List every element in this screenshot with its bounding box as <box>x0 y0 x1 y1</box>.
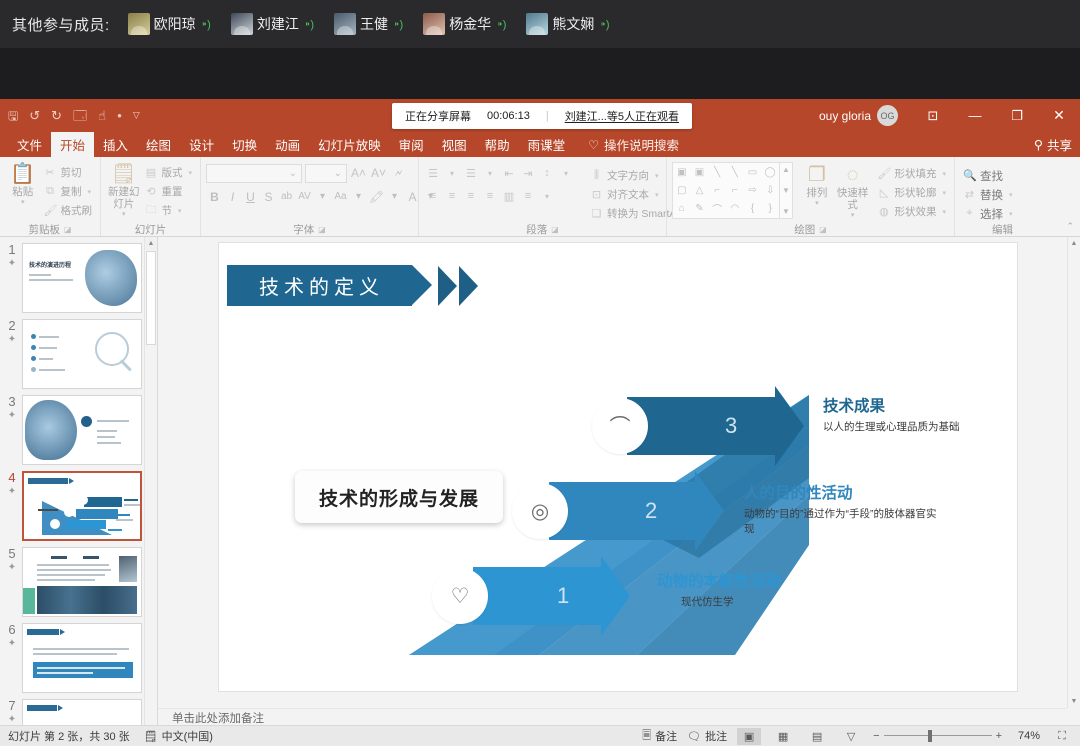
chevron-down-icon: ▾ <box>942 170 946 178</box>
thumb-index: 3 <box>8 394 15 409</box>
thumbnail-preview[interactable] <box>22 319 142 389</box>
align-right-button[interactable]: ≡ <box>462 187 480 205</box>
ribbon-group-font: ⌄ ⌄ A˄ A˅ 🗲 B I U S <box>200 157 418 237</box>
step-number-1: 1 <box>557 583 569 609</box>
shape-fill-label: 形状填充 <box>894 166 936 181</box>
animation-star-icon: ✦ <box>2 258 22 269</box>
participant-item[interactable]: 熊文娴 ⁍) <box>526 13 609 35</box>
account-avatar[interactable]: OG <box>877 105 898 126</box>
thumb-index: 1 <box>8 242 15 257</box>
animation-star-icon: ✦ <box>2 562 22 573</box>
step-title-1: 动物的本能性活动 <box>657 573 847 592</box>
format-painter-label: 格式刷 <box>61 203 93 218</box>
thumb-mini: 技术的演进历程 <box>23 244 141 312</box>
find-label: 查找 <box>980 168 1003 184</box>
chevron-down-icon[interactable]: ▾ <box>557 164 575 182</box>
comment-icon: 🗨 <box>687 730 701 743</box>
clear-formatting-icon[interactable]: 🗲 <box>390 164 407 183</box>
clipboard-label: 剪贴板 <box>28 222 60 237</box>
chevron-down-icon: ⌄ <box>289 168 297 179</box>
thumb-index: 6 <box>8 622 15 637</box>
zoom-control[interactable]: − + <box>873 730 1002 742</box>
align-text-icon: ⊡ <box>590 188 603 201</box>
slide-thumbnail-panel[interactable]: 1 ✦ 技术的演进历程 2 ✦ <box>0 237 158 746</box>
step-icon-circle-1[interactable]: ♡ <box>432 568 488 624</box>
chevron-down-icon: ▾ <box>942 189 946 197</box>
proofing-icon: 🗒 <box>144 730 158 743</box>
mic-on-icon: ⁍) <box>497 18 506 31</box>
replace-icon: ⇄ <box>963 188 976 201</box>
participants-label: 其他参与成员: <box>12 14 110 35</box>
zoom-handle[interactable] <box>928 730 932 742</box>
shape-outline-button[interactable]: ◺ 形状轮廓 ▾ <box>874 184 949 201</box>
numbering-button[interactable]: ☰ <box>462 164 480 182</box>
process-diagram[interactable]: 3 2 1 <box>399 383 999 673</box>
group-label-editing: 编辑 <box>960 222 1045 237</box>
normal-view-button[interactable]: ▣ <box>737 728 761 745</box>
arrange-button[interactable]: ❐ 排列 ▾ <box>801 162 833 208</box>
heart-icon: ♡ <box>451 584 470 609</box>
chevron-down-icon: ▾ <box>1009 210 1013 218</box>
quick-styles-button[interactable]: ◌ 快速样式 ▾ <box>837 162 869 220</box>
thumbnail-item-selected[interactable]: 4 ✦ <box>0 465 157 541</box>
chevron-down-icon[interactable]: ▾ <box>443 164 461 182</box>
tab-insert[interactable]: 插入 <box>94 132 137 157</box>
chevron-down-icon[interactable]: ▾ <box>350 187 367 206</box>
group-label-drawing: 绘图 ◪ <box>672 222 949 237</box>
paste-button[interactable]: 📋 粘贴 ▾ <box>5 161 41 207</box>
shape-pentagon-icon[interactable]: ⌂ <box>679 203 685 214</box>
copy-label: 复制 <box>61 184 82 199</box>
shape-textbox-icon[interactable]: ▣ <box>677 167 686 178</box>
thumbnail-number: 2 ✦ <box>2 319 22 345</box>
tell-me-label: 操作说明搜索 <box>604 135 679 154</box>
tell-me-search[interactable]: ♡ 操作说明搜索 <box>574 132 688 157</box>
italic-button[interactable]: I <box>224 187 241 206</box>
step-desc-1: 现代仿生学 <box>657 595 847 610</box>
search-icon: 🔍 <box>963 169 976 182</box>
change-case-button[interactable]: Aa <box>332 187 349 206</box>
dialog-launcher-icon[interactable]: ◪ <box>551 225 559 234</box>
editing-label: 编辑 <box>992 222 1013 237</box>
shape-curve-icon[interactable]: ⌒ <box>712 201 722 216</box>
new-slide-icon: 🗒 <box>111 163 136 185</box>
animation-star-icon: ✦ <box>2 638 22 649</box>
tab-design[interactable]: 设计 <box>180 132 223 157</box>
undo-icon[interactable]: ↺ <box>29 109 40 122</box>
lightbulb-icon: ♡ <box>588 138 599 152</box>
font-size-combo[interactable]: ⌄ <box>305 164 347 183</box>
notes-icon: 🗏 <box>642 727 651 746</box>
scrollbar-thumb[interactable] <box>146 251 156 345</box>
group-label-clipboard: 剪贴板 ◪ <box>5 222 95 237</box>
mic-on-icon: ⁍) <box>202 18 211 31</box>
thumbnail-scrollbar[interactable]: ▲ ▼ <box>144 237 157 746</box>
process-arrow-1[interactable]: 1 <box>473 567 601 625</box>
select-icon: ⌖ <box>963 207 976 220</box>
reset-button[interactable]: ⟲ 重置 <box>141 183 195 200</box>
comments-toggle[interactable]: 🗨 批注 <box>687 728 727 744</box>
touch-mode-icon[interactable]: ☝ <box>98 109 106 122</box>
shape-oval-icon[interactable]: ◯ <box>765 167 776 178</box>
select-label: 选择 <box>980 206 1003 222</box>
process-arrow-2[interactable]: 2 <box>549 482 695 540</box>
thumbnail-item[interactable]: 5 ✦ <box>0 541 157 617</box>
thumb-mini <box>23 624 141 692</box>
slide-title[interactable]: 技术的定义 <box>227 265 412 306</box>
thumbnail-preview[interactable] <box>22 623 142 693</box>
share-button[interactable]: ⚲ 共享 <box>1034 135 1072 154</box>
replace-label: 替换 <box>980 187 1003 203</box>
collapse-ribbon-icon[interactable]: ⌃ <box>1066 221 1074 232</box>
minimize-icon[interactable]: — <box>954 99 996 132</box>
shape-rect-icon[interactable]: ▭ <box>748 167 757 178</box>
line-spacing-button[interactable]: ↕ <box>538 164 556 182</box>
participant-name: 欧阳琼 <box>154 14 196 34</box>
bullets-button[interactable]: ☰ <box>424 164 442 182</box>
restore-icon[interactable]: ❐ <box>996 99 1038 132</box>
proofing-status[interactable]: 🗒 中文(中国) <box>144 728 213 744</box>
copy-icon: ⧉ <box>44 185 57 198</box>
status-left: 幻灯片 第 2 张，共 30 张 🗒 中文(中国) <box>0 728 213 744</box>
shape-down-arrow-icon[interactable]: ⇩ <box>766 185 774 196</box>
thumb-index: 5 <box>8 546 15 561</box>
shape-outline-icon: ◺ <box>877 186 890 199</box>
chevron-down-icon: ▾ <box>188 169 192 177</box>
align-left-button[interactable]: ≡ <box>424 187 442 205</box>
columns-button[interactable]: ▥ <box>500 187 518 205</box>
paragraph-label: 段落 <box>526 222 547 237</box>
thumbnail-item[interactable]: 3 ✦ <box>0 389 157 465</box>
shape-outline-label: 形状轮廓 <box>894 185 936 200</box>
thumbnail-number: 1 ✦ <box>2 243 22 269</box>
thumbnail-item[interactable]: 2 ✦ <box>0 313 157 389</box>
tab-file[interactable]: 文件 <box>8 132 51 157</box>
quick-styles-label: 快速样式 <box>837 187 869 211</box>
step-icon-circle-2[interactable]: ◎ <box>512 483 568 539</box>
step-icon-circle-3[interactable]: ⌒ <box>592 398 648 454</box>
share-status: 正在分享屏幕 <box>405 108 471 124</box>
current-slide[interactable]: 技术的定义 技术的形成与发展 <box>218 242 1018 692</box>
tab-slideshow[interactable]: 幻灯片放映 <box>309 132 390 157</box>
notes-label: 备注 <box>655 728 677 744</box>
chevron-down-icon: ▾ <box>1009 191 1013 199</box>
status-right: 🗏 备注 🗨 批注 ▣ ▦ ▤ ▽ − + 74% <box>642 727 1080 746</box>
shape-arc-icon[interactable]: ◠ <box>730 203 739 214</box>
chevron-down-icon[interactable]: ▾ <box>314 187 331 206</box>
copy-button[interactable]: ⧉ 复制 ▾ <box>41 183 96 200</box>
layout-icon: ▤ <box>144 166 157 179</box>
smartart-icon: ❏ <box>590 207 603 220</box>
thumbnail-number: 7 ✦ <box>2 699 22 725</box>
shape-right-brace-icon[interactable]: } <box>768 203 771 214</box>
decrease-indent-button[interactable]: ⇤ <box>500 164 518 182</box>
layout-button[interactable]: ▤ 版式 ▾ <box>141 164 195 181</box>
status-bar: 幻灯片 第 2 张，共 30 张 🗒 中文(中国) 🗏 备注 🗨 批注 ▣ ▦ … <box>0 725 1080 746</box>
slide-editing-stage[interactable]: 技术的定义 技术的形成与发展 <box>158 237 1067 708</box>
text-direction-label: 文字方向 <box>607 168 649 183</box>
scissors-icon: ✂ <box>44 166 57 179</box>
shapes-gallery[interactable]: ▣ ▣ ╲ ╲ ▭ ◯ ▢ △ ⌐ ⌐ ⇨ ⇩ ⌂ <box>672 162 780 219</box>
dialog-launcher-icon[interactable]: ◪ <box>819 225 827 234</box>
scroll-up-icon[interactable]: ▲ <box>1068 237 1080 250</box>
arrange-icon: ❐ <box>808 164 826 186</box>
thumbnail-item[interactable]: 1 ✦ 技术的演进历程 <box>0 237 157 313</box>
animation-star-icon: ✦ <box>2 410 22 421</box>
share-timer: 00:06:13 <box>487 110 530 122</box>
thumbnail-preview[interactable] <box>22 395 142 465</box>
tab-animations[interactable]: 动画 <box>266 132 309 157</box>
layout-label: 版式 <box>161 165 182 180</box>
animation-star-icon: ✦ <box>2 714 22 725</box>
chevron-down-icon: ▾ <box>88 188 92 196</box>
chevron-down-icon: ▾ <box>122 211 126 219</box>
tab-review[interactable]: 审阅 <box>390 132 433 157</box>
participant-name: 王健 <box>360 14 388 34</box>
cut-button[interactable]: ✂ 剪切 <box>41 164 96 181</box>
save-icon[interactable]: 🖫 <box>8 110 18 122</box>
section-button[interactable]: 🗀 节 ▾ <box>141 202 195 219</box>
scroll-up-icon[interactable]: ▲ <box>145 237 157 250</box>
group-label-slides: 幻灯片 <box>106 222 195 237</box>
decrease-font-size-icon[interactable]: A˅ <box>370 164 387 183</box>
language-label: 中文(中国) <box>162 728 213 744</box>
font-name-combo[interactable]: ⌄ <box>206 164 302 183</box>
ribbon-group-paragraph: ☰ ▾ ☰ ▾ ⇤ ⇥ ↕ ▾ ≡ ≡ ≡ <box>418 157 666 237</box>
thumbnail-number: 3 ✦ <box>2 395 22 421</box>
thumbnail-item[interactable]: 6 ✦ <box>0 617 157 693</box>
slide-title-group[interactable]: 技术的定义 <box>227 265 478 306</box>
text-shadow-button[interactable]: S <box>260 187 277 206</box>
step-number-2: 2 <box>645 498 657 524</box>
chevron-down-icon: ▾ <box>655 191 659 199</box>
new-slide-label: 新建幻灯片 <box>106 186 141 210</box>
thumbnail-preview[interactable] <box>22 471 142 541</box>
customize-qat-icon[interactable]: ▽ <box>133 111 140 120</box>
shape-effects-button[interactable]: ◍ 形状效果 ▾ <box>874 203 949 220</box>
align-center-button[interactable]: ≡ <box>443 187 461 205</box>
paste-label: 粘贴 <box>12 186 33 198</box>
thumb-index: 7 <box>8 698 15 713</box>
zoom-in-button[interactable]: + <box>996 730 1002 742</box>
share-label: 共享 <box>1047 135 1072 154</box>
reset-icon: ⟲ <box>144 185 157 198</box>
replace-button[interactable]: ⇄ 替换 ▾ <box>960 186 1016 203</box>
chevron-down-icon: ▾ <box>21 199 25 207</box>
shape-fill-icon: 🖌 <box>877 167 890 180</box>
thumbnail-number: 5 ✦ <box>2 547 22 573</box>
group-label-font: 字体 ◪ <box>206 222 413 237</box>
shape-line-icon[interactable]: ╲ <box>714 167 720 178</box>
underline-button[interactable]: U <box>242 187 259 206</box>
distributed-button[interactable]: ≡ <box>519 187 537 205</box>
participant-name: 熊文娴 <box>552 14 594 34</box>
thumb-mini <box>24 473 140 539</box>
section-icon: 🗀 <box>144 201 157 220</box>
increase-indent-button[interactable]: ⇥ <box>519 164 537 182</box>
chevron-decor-icon <box>438 266 457 306</box>
scroll-up-icon[interactable]: ▲ <box>782 165 790 174</box>
dialog-launcher-icon[interactable]: ◪ <box>64 225 72 234</box>
redo-icon[interactable]: ↻ <box>51 109 62 122</box>
ribbon-group-drawing: ▣ ▣ ╲ ╲ ▭ ◯ ▢ △ ⌐ ⌐ ⇨ ⇩ ⌂ <box>666 157 954 237</box>
thumbnail-preview[interactable]: 技术的演进历程 <box>22 243 142 313</box>
bold-button[interactable]: B <box>206 187 223 206</box>
mic-on-icon: ⁍) <box>600 18 609 31</box>
reset-label: 重置 <box>161 184 182 199</box>
select-button[interactable]: ⌖ 选择 ▾ <box>960 205 1016 222</box>
workspace: 1 ✦ 技术的演进历程 2 ✦ <box>0 237 1080 746</box>
participant-item[interactable]: 刘建江 ⁍) <box>231 13 314 35</box>
text-highlight-button[interactable]: 🖍 <box>368 187 385 206</box>
chevron-down-icon: ▾ <box>178 207 182 215</box>
chevron-down-icon: ⌄ <box>334 168 342 179</box>
avatar <box>423 13 445 35</box>
thumb-index: 4 <box>8 470 15 485</box>
tab-home[interactable]: 开始 <box>51 132 94 157</box>
reading-view-button[interactable]: ▤ <box>805 728 829 745</box>
tab-view[interactable]: 视图 <box>433 132 476 157</box>
avatar <box>231 13 253 35</box>
slideshow-view-button[interactable]: ▽ <box>839 728 863 745</box>
find-button[interactable]: 🔍 查找 <box>960 167 1016 184</box>
shape-triangle-icon[interactable]: △ <box>696 185 704 196</box>
shapes-gallery-scroll[interactable]: ▲ ▼ ▼ <box>780 162 793 219</box>
shape-round-rect-icon[interactable]: ▢ <box>677 185 686 196</box>
section-label: 节 <box>161 203 172 218</box>
close-icon[interactable]: ✕ <box>1038 99 1080 132</box>
tab-rain-classroom[interactable]: 雨课堂 <box>519 132 575 157</box>
ribbon-tab-strip: 文件 开始 插入 绘图 设计 切换 动画 幻灯片放映 审阅 视图 帮助 雨课堂 … <box>0 132 1080 157</box>
tab-draw[interactable]: 绘图 <box>137 132 180 157</box>
participant-item[interactable]: 王健 ⁍) <box>334 13 403 35</box>
participant-item[interactable]: 欧阳琼 ⁍) <box>128 13 211 35</box>
participant-item[interactable]: 杨金华 ⁍) <box>423 13 506 35</box>
gallery-more-icon[interactable]: ▼ <box>782 207 790 216</box>
strikethrough-button[interactable]: ab <box>278 187 295 206</box>
tab-transitions[interactable]: 切换 <box>223 132 266 157</box>
step-number-3: 3 <box>725 413 737 439</box>
arrange-label: 排列 <box>806 187 827 199</box>
process-arrow-3[interactable]: 3 <box>627 397 775 455</box>
stage-scrollbar[interactable]: ▲ ▼ <box>1067 237 1080 708</box>
ribbon-group-clipboard: 📋 粘贴 ▾ ✂ 剪切 ⧉ 复制 ▾ <box>0 157 100 237</box>
ribbon-group-slides: 🗒 新建幻灯片 ▾ ▤ 版式 ▾ ⟲ 重置 <box>100 157 200 237</box>
shape-fill-button[interactable]: 🖌 形状填充 ▾ <box>874 165 949 182</box>
step-callout-3[interactable]: 技术成果 以人的生理或心理品质为基础 <box>823 398 999 435</box>
participant-name: 刘建江 <box>257 14 299 34</box>
dialog-launcher-icon[interactable]: ◪ <box>318 225 326 234</box>
step-desc-3: 以人的生理或心理品质为基础 <box>823 420 999 435</box>
mic-on-icon: ⁍) <box>305 18 314 31</box>
comments-label: 批注 <box>705 728 727 744</box>
thumbnail-preview[interactable] <box>22 547 142 617</box>
meeting-participants-bar: 其他参与成员: 欧阳琼 ⁍) 刘建江 ⁍) 王健 ⁍) 杨金华 ⁍) <box>0 0 1080 99</box>
shape-left-brace-icon[interactable]: { <box>751 203 754 214</box>
format-painter-button[interactable]: 🖌 格式刷 <box>41 202 96 219</box>
target-icon: ◎ <box>531 499 549 524</box>
new-slide-button[interactable]: 🗒 新建幻灯片 ▾ <box>106 161 141 219</box>
align-text-label: 对齐文本 <box>607 187 649 202</box>
animation-star-icon: ✦ <box>2 334 22 345</box>
arrow-shape-3: 3 <box>627 397 775 455</box>
justify-button[interactable]: ≡ <box>481 187 499 205</box>
chevron-decor-icon <box>459 266 478 306</box>
shape-arrow-icon[interactable]: ╲ <box>732 167 738 178</box>
shape-textbox2-icon[interactable]: ▣ <box>695 167 704 178</box>
zoom-percentage[interactable]: 74% <box>1012 730 1040 742</box>
fit-slide-button[interactable]: ⛶ <box>1050 728 1074 745</box>
zoom-out-button[interactable]: − <box>873 730 879 742</box>
slide-sorter-view-button[interactable]: ▦ <box>771 728 795 745</box>
share-person-icon: ⚲ <box>1034 137 1043 152</box>
ribbon-display-options-icon[interactable]: ⊡ <box>912 99 954 132</box>
thumb-mini <box>23 548 141 616</box>
notes-toggle[interactable]: 🗏 备注 <box>642 727 677 746</box>
shape-elbow2-icon[interactable]: ⌐ <box>732 185 738 196</box>
shape-effects-label: 形状效果 <box>894 204 936 219</box>
group-label-paragraph: 段落 ◪ <box>424 222 661 237</box>
chevron-down-icon[interactable]: ▾ <box>538 187 556 205</box>
account-name[interactable]: ouy gloria <box>819 109 871 123</box>
scroll-down-icon[interactable]: ▼ <box>1068 695 1080 708</box>
arrow-shape-2: 2 <box>549 482 695 540</box>
start-slideshow-icon[interactable]: 🗔 <box>73 109 87 122</box>
shape-right-arrow-icon[interactable]: ⇨ <box>748 185 756 196</box>
animation-star-icon: ✦ <box>2 486 22 497</box>
share-viewers[interactable]: 刘建江...等5人正在观看 <box>565 108 679 124</box>
screen-share-banner[interactable]: 正在分享屏幕 00:06:13 | 刘建江...等5人正在观看 <box>392 103 692 129</box>
avatar <box>526 13 548 35</box>
notes-pane[interactable]: 单击此处添加备注 <box>158 708 1067 726</box>
shape-effects-icon: ◍ <box>877 205 890 218</box>
title-bar-right: ouy gloria OG ⊡ — ❐ ✕ <box>819 99 1080 132</box>
thumbnail-number: 4 ✦ <box>2 471 22 497</box>
character-spacing-button[interactable]: AV <box>296 187 313 206</box>
chevron-down-icon: ▾ <box>655 172 659 180</box>
slides-label: 幻灯片 <box>135 222 167 237</box>
cut-label: 剪切 <box>61 165 82 180</box>
step-title-3: 技术成果 <box>823 398 999 417</box>
banner-divider: | <box>546 110 549 122</box>
avatar <box>128 13 150 35</box>
thumbnail-number: 6 ✦ <box>2 623 22 649</box>
increase-font-size-icon[interactable]: A˄ <box>350 164 367 183</box>
font-label: 字体 <box>293 222 314 237</box>
tab-help[interactable]: 帮助 <box>476 132 519 157</box>
chevron-down-icon[interactable]: ▾ <box>481 164 499 182</box>
chevron-down-icon[interactable]: ▾ <box>386 187 403 206</box>
chevron-down-icon: ▾ <box>851 212 855 220</box>
step-callout-1[interactable]: 动物的本能性活动 现代仿生学 <box>657 573 847 610</box>
scroll-down-icon[interactable]: ▼ <box>782 186 790 195</box>
thumb-mini <box>23 396 141 464</box>
zoom-track[interactable] <box>884 730 992 742</box>
powerpoint-window: 🖫 ↺ ↻ 🗔 ☝ ● ▽ 正在分享屏幕 00:06:13 | 刘建江...等5… <box>0 99 1080 746</box>
participants-strip: 其他参与成员: 欧阳琼 ⁍) 刘建江 ⁍) 王健 ⁍) 杨金华 ⁍) <box>0 0 1080 48</box>
thumb-index: 2 <box>8 318 15 333</box>
shape-elbow-icon[interactable]: ⌐ <box>714 185 720 196</box>
chevron-down-icon: ▾ <box>815 200 819 208</box>
slide-counter[interactable]: 幻灯片 第 2 张，共 30 张 <box>8 728 130 744</box>
ribbon-group-editing: 🔍 查找 ⇄ 替换 ▾ ⌖ 选择 ▾ <box>954 157 1050 237</box>
arch-icon: ⌒ <box>610 411 631 441</box>
step-callout-2[interactable]: 人的目的性活动 动物的“目的”通过作为“手段”的肢体器官实现 <box>744 485 944 537</box>
paste-icon: 📋 <box>10 163 35 185</box>
quick-styles-icon: ◌ <box>847 164 859 186</box>
qat-dot-icon: ● <box>117 112 122 120</box>
shape-scribble-icon[interactable]: ✎ <box>695 203 703 214</box>
